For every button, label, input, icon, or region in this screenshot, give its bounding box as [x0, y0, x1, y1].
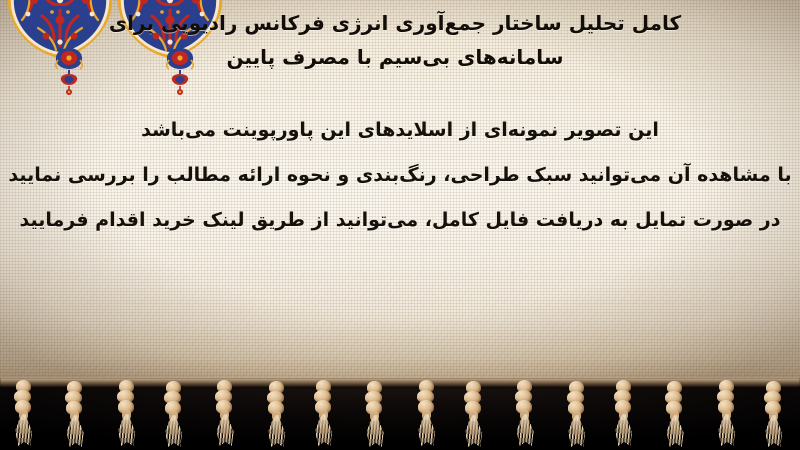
body-line-2: با مشاهده آن می‌توانید سبک طراحی، رنگ‌بن…: [0, 153, 800, 198]
fringe-tassel: [208, 380, 242, 446]
fringe-tassel: [358, 381, 392, 447]
fringe-tassel: [757, 381, 791, 447]
fringe-tassel: [58, 381, 92, 447]
fringe-tassel: [410, 380, 444, 446]
fringe-tassel: [260, 381, 294, 447]
body-line-3: در صورت تمایل به دریافت فایل کامل، می‌تو…: [0, 198, 800, 243]
carpet-bottom-band: [0, 378, 800, 450]
fringe-tassel: [658, 381, 692, 447]
fringe-tassel: [560, 381, 594, 447]
slide-canvas: کامل تحلیل ساختار جمع‌آوری انرژی فرکانس …: [0, 0, 800, 450]
fringe-tassel: [110, 380, 144, 446]
fringe-tassel: [307, 380, 341, 446]
title-line-2: سامانه‌های بی‌سیم با مصرف پایین: [0, 40, 790, 74]
fringe-tassel: [457, 381, 491, 447]
body-line-1: این تصویر نمونه‌ای از اسلایدهای این پاور…: [0, 108, 800, 153]
title-line-1: کامل تحلیل ساختار جمع‌آوری انرژی فرکانس …: [0, 6, 790, 40]
slide-title: کامل تحلیل ساختار جمع‌آوری انرژی فرکانس …: [0, 6, 790, 74]
carpet-fringe: [0, 378, 800, 450]
fringe-tassel: [710, 380, 744, 446]
slide-body: این تصویر نمونه‌ای از اسلایدهای این پاور…: [0, 108, 800, 243]
fringe-tassel: [7, 380, 41, 446]
fringe-tassel: [508, 380, 542, 446]
fringe-tassel: [157, 381, 191, 447]
fringe-tassel: [607, 380, 641, 446]
